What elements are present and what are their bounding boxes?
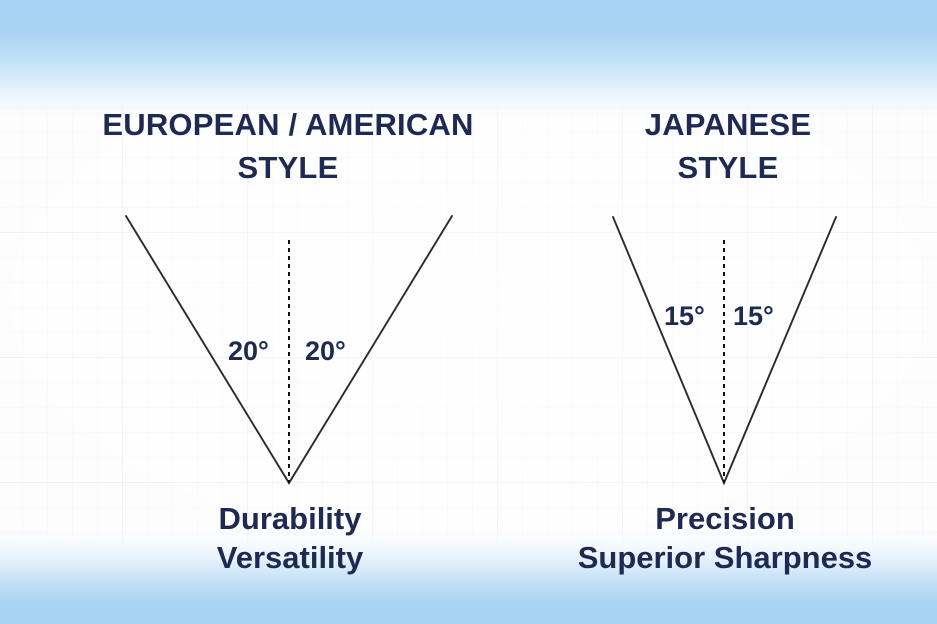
heading-european-american: EUROPEAN / AMERICAN STYLE — [38, 104, 538, 190]
angle-label-left-side: 20° — [228, 338, 269, 365]
footer-attributes-japanese: Precision Superior Sharpness — [520, 500, 930, 578]
angle-label-right-side-mirror: 15° — [733, 303, 774, 330]
angle-label-right-side: 15° — [664, 303, 705, 330]
left-bevel-v — [126, 216, 452, 483]
footer-attributes-european-american: Durability Versatility — [90, 500, 490, 578]
diagram-canvas: EUROPEAN / AMERICAN STYLE JAPANESE STYLE… — [0, 0, 937, 624]
heading-japanese: JAPANESE STYLE — [560, 104, 896, 190]
right-bevel-v — [613, 217, 836, 483]
angle-label-left-side-mirror: 20° — [305, 338, 346, 365]
